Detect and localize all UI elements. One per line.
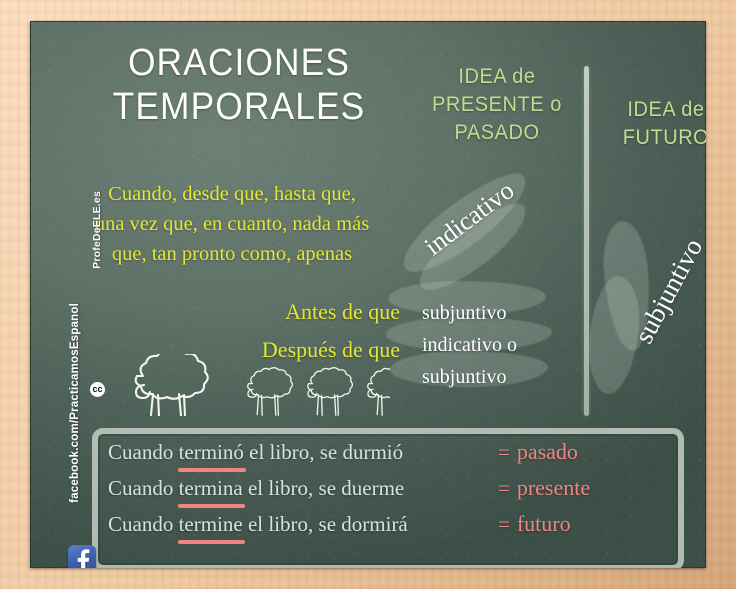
conjunction-line-1: Cuando, desde que, hasta que,: [48, 179, 416, 209]
title-line-1: ORACIONES: [76, 41, 402, 85]
chalk-trees-drawing: [120, 354, 390, 416]
example-sentence-pre: Cuando: [108, 476, 179, 500]
creative-commons-icon: cc: [90, 382, 105, 397]
mood-line-3: subjuntivo: [422, 361, 572, 393]
column-header-present-past: IDEA de PRESENTE o PASADO: [426, 63, 569, 147]
mood-line-1: subjuntivo: [422, 297, 572, 329]
conjunction-line-3: que, tan pronto como, apenas: [48, 239, 416, 269]
conjunction-line-2: una vez que, en cuanto, nada más: [48, 209, 416, 239]
header-line-2: FUTURO: [600, 124, 707, 152]
conjunctions-group-one: Cuando, desde que, hasta que, una vez qu…: [48, 179, 416, 269]
example-sentence: Cuando termina el libro, se duerme: [108, 476, 498, 501]
equals-sign: =: [498, 476, 510, 501]
example-tense-label: presente: [517, 475, 590, 501]
chalkboard-surface: ORACIONES TEMPORALES IDEA de PRESENTE o …: [30, 21, 706, 568]
example-sentence-post: el libro, se durmió: [244, 440, 403, 464]
header-line-3: PASADO: [426, 119, 569, 147]
example-tense-label: futuro: [517, 511, 571, 537]
example-sentence: Cuando terminó el libro, se durmió: [108, 440, 498, 465]
example-row: Cuando termine el libro, se dormirá = fu…: [108, 511, 660, 547]
example-row: Cuando terminó el libro, se durmió = pas…: [108, 439, 660, 475]
examples-list: Cuando terminó el libro, se durmió = pas…: [108, 439, 660, 547]
vertical-divider-line: [584, 66, 589, 416]
example-sentence-post: el libro, se duerme: [243, 476, 405, 500]
header-line-1: IDEA de: [600, 96, 707, 124]
facebook-url-label[interactable]: facebook.com/PracticamosEspanol: [69, 303, 81, 503]
conjunction-antes-de-que: Antes de que: [48, 293, 400, 331]
example-row: Cuando termina el libro, se duerme = pre…: [108, 475, 660, 511]
header-line-1: IDEA de: [426, 63, 569, 91]
example-tense-label: pasado: [517, 439, 578, 465]
header-line-2: PRESENTE o: [426, 91, 569, 119]
page-title: ORACIONES TEMPORALES: [76, 41, 402, 129]
column-header-future: IDEA de FUTURO: [600, 96, 707, 152]
chalkboard-poster: ORACIONES TEMPORALES IDEA de PRESENTE o …: [0, 0, 736, 589]
equals-sign: =: [498, 440, 510, 465]
mood-line-2: indicativo o: [422, 329, 572, 361]
facebook-icon[interactable]: [68, 545, 96, 568]
example-sentence: Cuando termine el libro, se dormirá: [108, 512, 498, 537]
example-verb: termina: [179, 476, 243, 501]
example-sentence-pre: Cuando: [108, 512, 179, 536]
title-line-2: TEMPORALES: [76, 85, 402, 129]
example-sentence-pre: Cuando: [108, 440, 179, 464]
mood-list-middle: subjuntivo indicativo o subjuntivo: [422, 297, 572, 393]
example-verb: termine: [179, 512, 243, 537]
site-url-label[interactable]: ProfeDeELE.es: [91, 191, 103, 269]
example-sentence-post: el libro, se dormirá: [243, 512, 408, 536]
example-verb: terminó: [179, 440, 244, 465]
equals-sign: =: [498, 512, 510, 537]
